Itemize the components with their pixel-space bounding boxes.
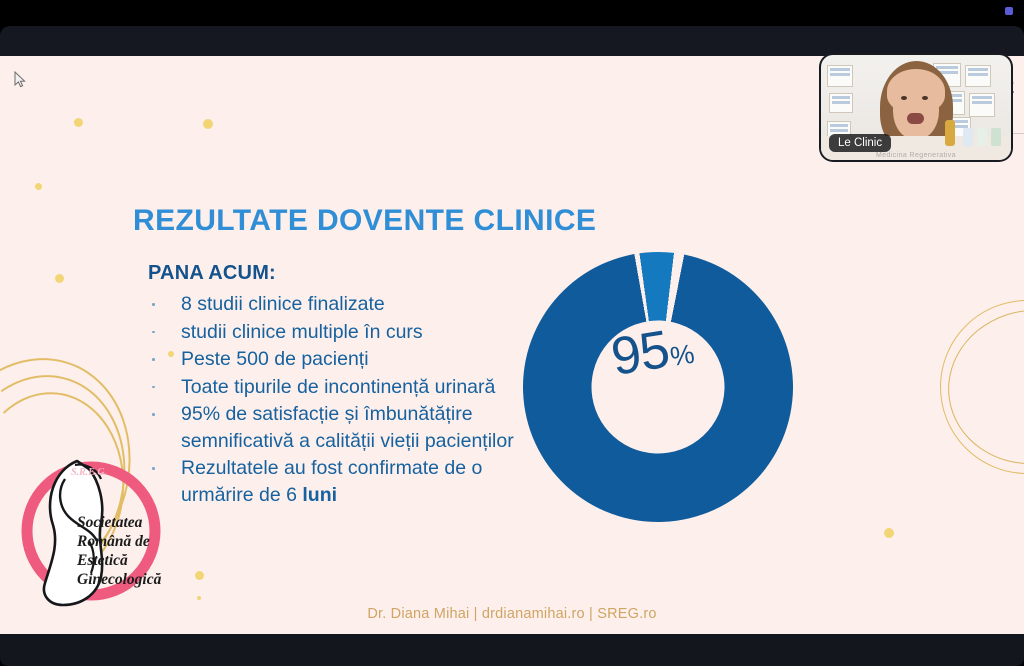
slide-title: REZULTATE DOVENTE CLINICE [133, 204, 596, 238]
slide-body: PANA ACUM: 8 studii clinice finalizatest… [148, 262, 548, 509]
mouse-cursor [14, 71, 26, 88]
logo-line-1: Societatea [77, 514, 143, 531]
bullet-item: studii clinice multiple în curs [148, 319, 548, 346]
bullet-item: Peste 500 de pacienți [148, 346, 548, 373]
bullet-text: Peste 500 de pacienți [181, 348, 369, 370]
shelf-item [977, 128, 987, 146]
logo-line-4: Ginecologică [77, 571, 162, 588]
window-title-bar [0, 26, 1024, 56]
decor-dot [74, 118, 83, 127]
shelf-item [963, 128, 973, 146]
shelf-item [991, 128, 1001, 146]
decor-dot [35, 183, 42, 190]
person-face [893, 77, 939, 139]
person-mouth [907, 113, 924, 124]
bullet-text: 8 studii clinice finalizate [181, 293, 385, 315]
bullet-item: Rezultatele au fost confirmate de o urmă… [148, 455, 548, 508]
donut-chart: 95% [523, 252, 793, 522]
person-eye-left [901, 96, 907, 100]
wall-certificate [829, 93, 853, 113]
logo-line-3: Estetică [76, 552, 128, 569]
bullet-text: studii clinice multiple în curs [181, 321, 423, 343]
wall-certificate [827, 65, 853, 87]
webcam-watermark: Medicina Regenerativa [821, 152, 1011, 159]
bullet-item: 8 studii clinice finalizate [148, 291, 548, 318]
window-bottom-bar [0, 634, 1024, 666]
decor-dot [203, 119, 213, 129]
trophy [945, 120, 955, 146]
decor-dot [195, 571, 204, 580]
logo-acronym: S.R.E.G. [71, 467, 107, 478]
bullet-text: 95% de satisfacție și îmbunătățire semni… [181, 403, 514, 452]
status-indicator-dot [1005, 7, 1013, 15]
bullet-list: 8 studii clinice finalizatestudii clinic… [148, 291, 548, 508]
bullet-item: Toate tipurile de incontinență urinară [148, 374, 548, 401]
wall-certificate [965, 65, 991, 87]
bullet-item: 95% de satisfacție și îmbunătățire semni… [148, 401, 548, 454]
bullet-text: Toate tipurile de incontinență urinară [181, 376, 495, 398]
webcam-participant-label: Le Clinic [829, 134, 891, 152]
window-top-black-bar [0, 0, 1024, 26]
decor-dot [884, 528, 894, 538]
bullet-text-emphasis: luni [302, 484, 337, 506]
sreg-logo: S.R.E.G. Societatea Română de Estetică G… [5, 445, 173, 613]
webcam-tile[interactable]: Le Clinic Medicina Regenerativa [821, 55, 1011, 160]
screen: REZULTATE DOVENTE CLINICE PANA ACUM: 8 s… [0, 0, 1024, 666]
decor-dot [197, 596, 201, 600]
donut-unit: % [668, 339, 697, 373]
wall-certificate [969, 93, 995, 117]
logo-line-2: Română de [76, 533, 150, 550]
body-lead-label: PANA ACUM: [148, 262, 548, 285]
slide-footer: Dr. Diana Mihai | drdianamihai.ro | SREG… [0, 606, 1024, 622]
decor-dot [55, 274, 64, 283]
person-eye-right [922, 96, 928, 100]
donut-value: 95 [607, 319, 673, 388]
